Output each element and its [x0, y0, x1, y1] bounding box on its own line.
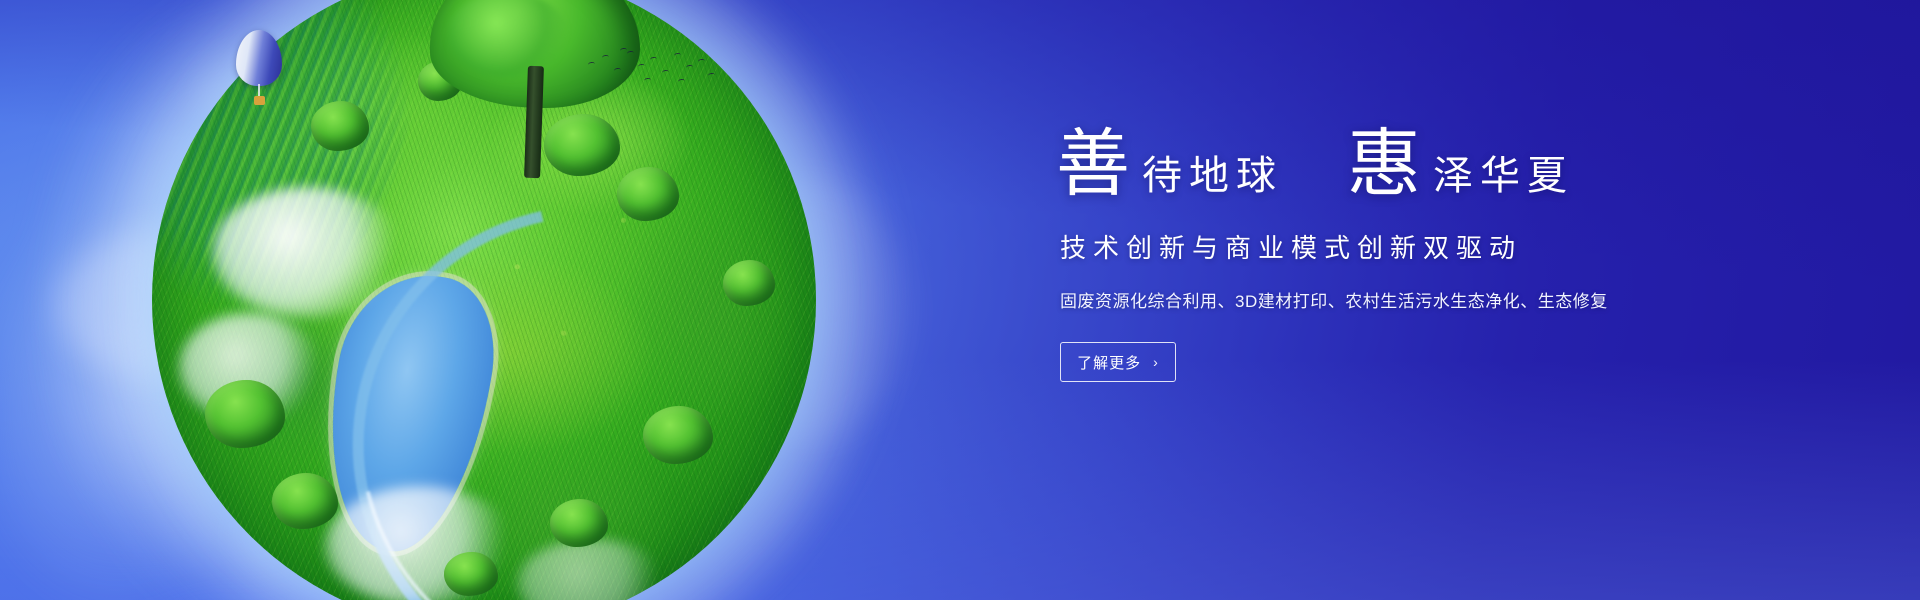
planet-tree-4: [617, 167, 679, 221]
bird: [602, 55, 610, 61]
headline-daidiqiu: 待地球: [1142, 156, 1283, 196]
hot-air-balloon-icon: [236, 30, 282, 114]
learn-more-label: 了解更多: [1077, 352, 1141, 373]
planet-tree-9: [723, 260, 775, 306]
bird: [678, 79, 686, 85]
balloon-basket: [254, 96, 265, 105]
headline-char-shan: 善: [1056, 128, 1132, 202]
tree-trunk: [524, 66, 544, 178]
hero-headline: 善 待地球 惠 泽华夏: [1056, 128, 1796, 202]
planet-tree-7: [643, 406, 713, 464]
bird-flock-icon: [586, 46, 716, 90]
planet-tree-6: [272, 473, 338, 529]
bird: [686, 65, 694, 71]
headline-char-hui: 惠: [1347, 128, 1423, 202]
hero-description: 固废资源化综合利用、3D建材打印、农村生活污水生态净化、生态修复: [1060, 287, 1796, 312]
planet-tree-5: [205, 380, 285, 448]
chevron-right-icon: ›: [1153, 354, 1159, 370]
planet-tree-1: [311, 101, 369, 151]
bird: [588, 62, 596, 68]
bird: [644, 78, 652, 84]
hero-banner: 善 待地球 惠 泽华夏 技术创新与商业模式创新双驱动 固废资源化综合利用、3D建…: [0, 0, 1920, 600]
bird: [708, 73, 716, 79]
headline-zehuaxia: 泽华夏: [1433, 156, 1574, 196]
hero-content: 善 待地球 惠 泽华夏 技术创新与商业模式创新双驱动 固废资源化综合利用、3D建…: [1056, 128, 1796, 382]
bird: [638, 64, 646, 70]
planet-cloud-1: [212, 187, 402, 317]
bird: [627, 51, 635, 57]
bird: [650, 57, 658, 63]
balloon-envelope: [236, 30, 282, 86]
bird: [614, 68, 622, 74]
learn-more-button[interactable]: 了解更多 ›: [1060, 342, 1176, 382]
bird: [662, 70, 670, 76]
hero-subtitle: 技术创新与商业模式创新双驱动: [1060, 228, 1796, 265]
bird: [698, 59, 706, 65]
bird: [674, 53, 682, 59]
